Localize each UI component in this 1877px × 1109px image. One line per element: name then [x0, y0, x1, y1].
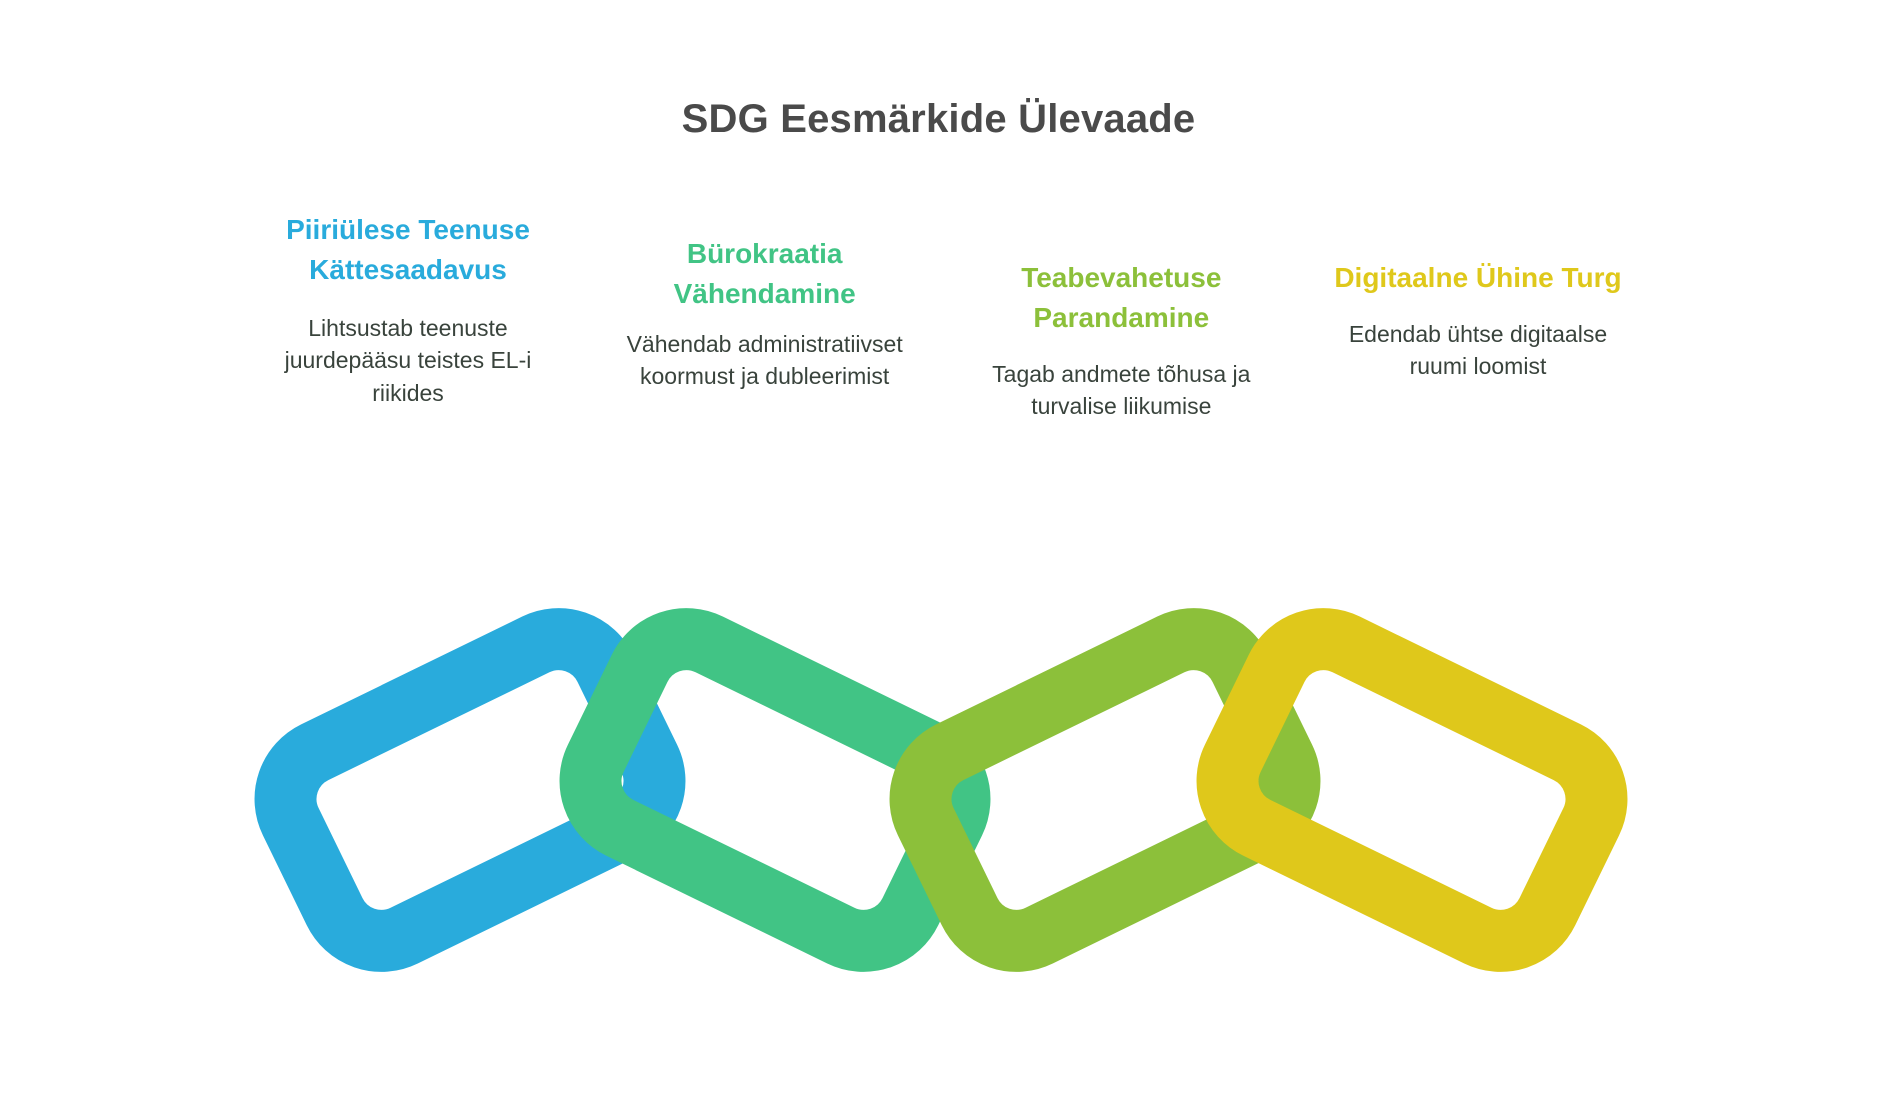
- column-1-body: Lihtsustab teenuste juurdepääsu teistes …: [258, 290, 558, 410]
- infographic-canvas: SDG Eesmärkide Ülevaade Piiriülese Teenu…: [0, 0, 1877, 1109]
- column-digital-single-market: Digitaalne Ühine Turg Edendab ühtse digi…: [1328, 258, 1628, 383]
- column-1-heading: Piiriülese Teenuse Kättesaadavus: [258, 210, 558, 290]
- column-4-heading: Digitaalne Ühine Turg: [1328, 258, 1628, 298]
- column-information-exchange: Teabevahetuse Parandamine Tagab andmete …: [971, 258, 1271, 423]
- column-2-heading: Bürokraatia Vähendamine: [615, 234, 915, 314]
- page-title: SDG Eesmärkide Ülevaade: [0, 97, 1877, 142]
- column-3-heading: Teabevahetuse Parandamine: [971, 258, 1271, 338]
- columns-row: Piiriülese Teenuse Kättesaadavus Lihtsus…: [258, 210, 1628, 500]
- chain-graphic: [0, 560, 1877, 1020]
- column-cross-border-service: Piiriülese Teenuse Kättesaadavus Lihtsus…: [258, 210, 558, 409]
- column-2-body: Vähendab administratiivset koormust ja d…: [615, 314, 915, 393]
- column-3-body: Tagab andmete tõhusa ja turvalise liikum…: [971, 338, 1271, 423]
- chain-links-svg: [0, 560, 1877, 1020]
- column-4-body: Edendab ühtse digitaalse ruumi loomist: [1328, 298, 1628, 383]
- column-bureaucracy-reduction: Bürokraatia Vähendamine Vähendab adminis…: [615, 234, 915, 393]
